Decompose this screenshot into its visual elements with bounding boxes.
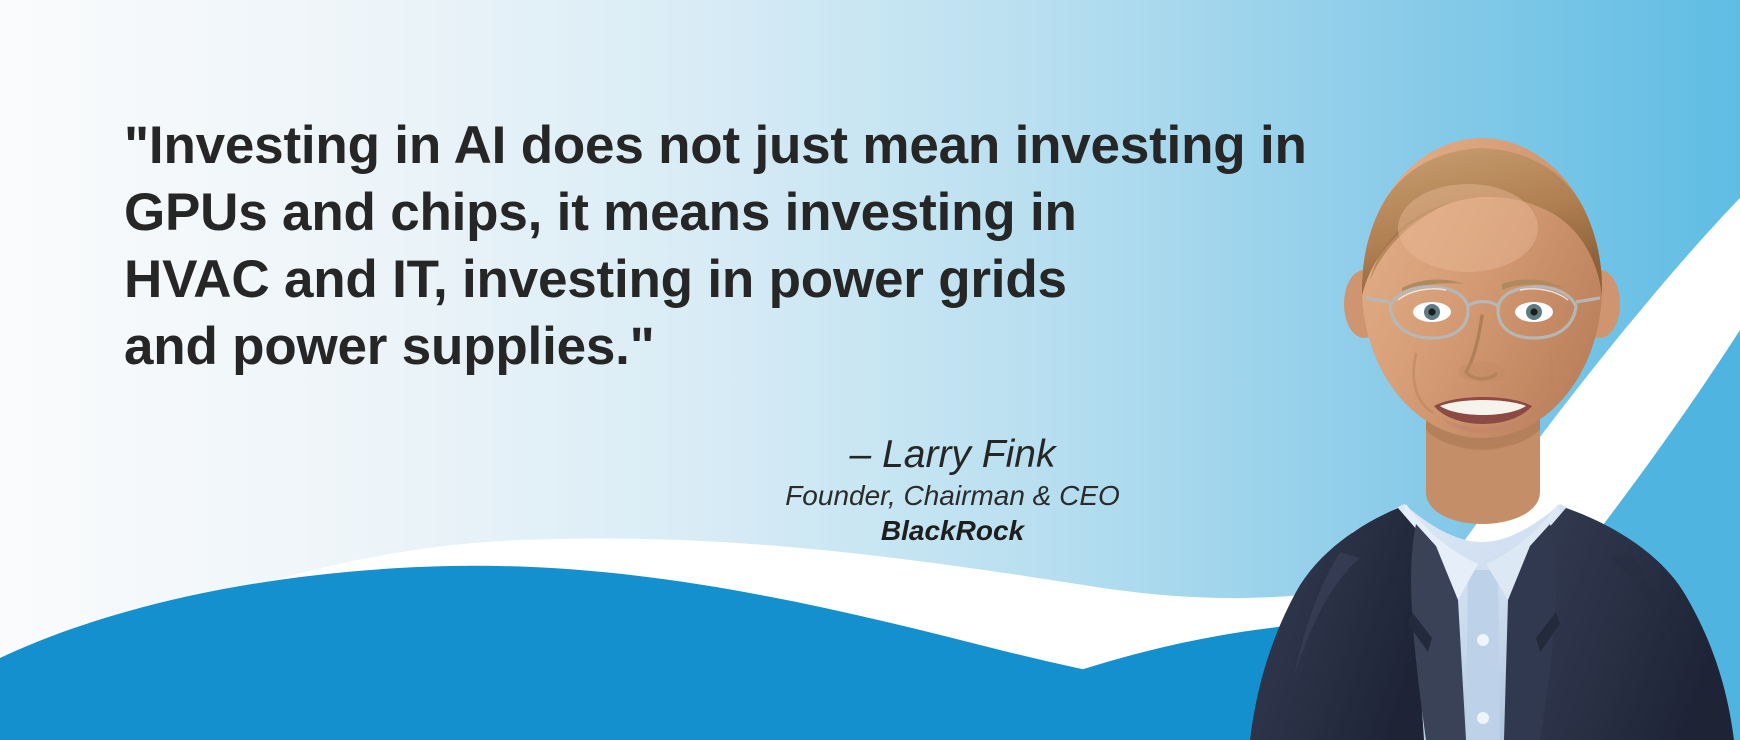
forehead-highlight bbox=[1398, 184, 1538, 272]
pupil-left bbox=[1428, 308, 1435, 315]
attribution-title: Founder, Chairman & CEO bbox=[640, 478, 1265, 513]
attribution-block: – Larry Fink Founder, Chairman & CEO Bla… bbox=[640, 432, 1265, 549]
attribution-company: BlackRock bbox=[640, 513, 1265, 549]
quote-card: "Investing in AI does not just mean inve… bbox=[0, 0, 1740, 740]
shirt-button-upper bbox=[1477, 634, 1489, 646]
nose-shadow bbox=[1458, 362, 1506, 382]
shirt-button-lower bbox=[1477, 712, 1489, 724]
attribution-name: – Larry Fink bbox=[640, 432, 1265, 478]
pupil-right bbox=[1530, 308, 1537, 315]
portrait-larry-fink bbox=[1220, 100, 1740, 740]
